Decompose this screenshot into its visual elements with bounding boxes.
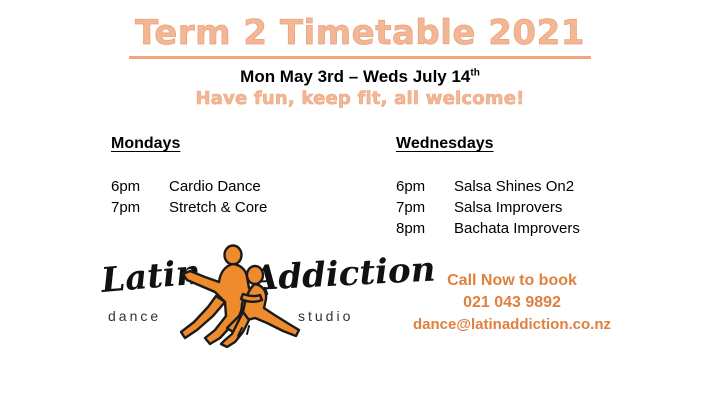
dancing-couple-icon bbox=[163, 244, 303, 348]
class-list-mondays: 6pm Cardio Dance 7pm Stretch & Core bbox=[111, 176, 267, 218]
schedule-column-mondays: Mondays 6pm Cardio Dance 7pm Stretch & C… bbox=[111, 134, 267, 218]
day-heading-wednesdays: Wednesdays bbox=[396, 134, 580, 154]
timetable-poster: Term 2 Timetable 2021 Mon May 3rd – Weds… bbox=[0, 0, 720, 405]
contact-phone[interactable]: 021 043 9892 bbox=[392, 292, 632, 314]
logo-subtext-dance: dance bbox=[108, 308, 161, 324]
class-time: 7pm bbox=[396, 197, 454, 218]
brand-logo: Latin Addiction dance studio bbox=[95, 248, 415, 348]
date-range-suffix: th bbox=[470, 67, 479, 78]
class-row: 6pm Cardio Dance bbox=[111, 176, 267, 197]
class-time: 6pm bbox=[111, 176, 169, 197]
class-row: 7pm Salsa Improvers bbox=[396, 197, 580, 218]
class-row: 8pm Bachata Improvers bbox=[396, 218, 580, 239]
day-heading-mondays: Mondays bbox=[111, 134, 267, 154]
class-list-wednesdays: 6pm Salsa Shines On2 7pm Salsa Improvers… bbox=[396, 176, 580, 239]
contact-call-to-action: Call Now to book bbox=[392, 270, 632, 292]
class-name: Salsa Improvers bbox=[454, 197, 562, 218]
contact-email[interactable]: dance@latinaddiction.co.nz bbox=[392, 314, 632, 336]
schedule-column-wednesdays: Wednesdays 6pm Salsa Shines On2 7pm Sals… bbox=[396, 134, 580, 239]
page-title-text: Term 2 Timetable 2021 bbox=[129, 13, 591, 59]
class-row: 6pm Salsa Shines On2 bbox=[396, 176, 580, 197]
date-range: Mon May 3rd – Weds July 14th bbox=[0, 66, 720, 87]
class-time: 7pm bbox=[111, 197, 169, 218]
date-range-prefix: Mon May 3rd bbox=[240, 67, 349, 86]
class-time: 6pm bbox=[396, 176, 454, 197]
class-row: 7pm Stretch & Core bbox=[111, 197, 267, 218]
class-name: Salsa Shines On2 bbox=[454, 176, 574, 197]
class-name: Bachata Improvers bbox=[454, 218, 580, 239]
contact-block: Call Now to book 021 043 9892 dance@lati… bbox=[392, 270, 632, 336]
date-range-dash: – bbox=[349, 67, 358, 86]
class-name: Cardio Dance bbox=[169, 176, 261, 197]
schedule: Mondays 6pm Cardio Dance 7pm Stretch & C… bbox=[0, 134, 720, 254]
date-range-middle: Weds July 14 bbox=[358, 67, 470, 86]
tagline: Have fun, keep fit, all welcome! bbox=[0, 88, 720, 110]
class-time: 8pm bbox=[396, 218, 454, 239]
logo-subtext-studio: studio bbox=[298, 308, 353, 324]
class-name: Stretch & Core bbox=[169, 197, 267, 218]
page-title: Term 2 Timetable 2021 bbox=[0, 13, 720, 59]
